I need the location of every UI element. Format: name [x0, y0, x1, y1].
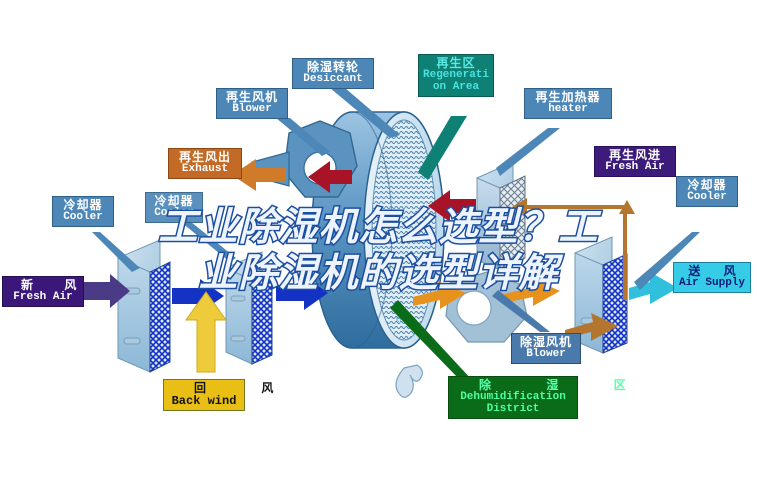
label-dehum-district-en-2: District: [453, 404, 573, 416]
label-regen-exhaust[interactable]: 再生风出 Exhaust: [168, 148, 242, 179]
overlay-title-line-1: 工业除湿机怎么选型？工: [0, 205, 757, 251]
label-cooler-right-en: Cooler: [681, 192, 733, 204]
water-drop: [396, 365, 422, 397]
label-back-wind-cn: 回 风: [168, 382, 240, 395]
label-cooler-right-cn: 冷却器: [681, 179, 733, 192]
label-back-wind[interactable]: 回 风 Back wind: [163, 379, 245, 411]
label-regen-area-cn: 再生区: [423, 57, 489, 70]
label-desiccant-rotor-en: Desiccant: [297, 74, 369, 86]
label-regen-area-en-2: on Area: [423, 82, 489, 94]
label-regen-exhaust-cn: 再生风出: [173, 151, 237, 164]
label-regen-exhaust-en: Exhaust: [173, 164, 237, 176]
label-cooler-right[interactable]: 冷却器 Cooler: [676, 176, 738, 207]
label-desiccant-rotor[interactable]: 除湿转轮 Desiccant: [292, 58, 374, 89]
label-regen-blower[interactable]: 再生风机 Blower: [216, 88, 288, 119]
label-dehum-blower[interactable]: 除湿风机 Blower: [511, 333, 581, 364]
overlay-title: 工业除湿机怎么选型？工 业除湿机的选型详解: [0, 205, 757, 297]
label-dehum-district-cn: 除 湿 区: [453, 379, 573, 392]
label-regen-fresh-air[interactable]: 再生风进 Fresh Air: [594, 146, 676, 177]
label-regen-heater[interactable]: 再生加热器 heater: [524, 88, 612, 119]
diagram-canvas: xt: [0, 0, 757, 488]
label-regen-fresh-air-en: Fresh Air: [599, 162, 671, 174]
label-dehum-district[interactable]: 除 湿 区 Dehumidification District: [448, 376, 578, 419]
label-regen-blower-cn: 再生风机: [221, 91, 283, 104]
label-desiccant-rotor-cn: 除湿转轮: [297, 61, 369, 74]
overlay-title-line-2: 业除湿机的选型详解: [0, 251, 757, 297]
label-back-wind-en: Back wind: [168, 395, 240, 408]
label-regen-heater-cn: 再生加热器: [529, 91, 607, 104]
label-regen-blower-en: Blower: [221, 104, 283, 116]
label-dehum-blower-en: Blower: [516, 349, 576, 361]
label-regen-area[interactable]: 再生区 Regenerati on Area: [418, 54, 494, 97]
label-dehum-blower-cn: 除湿风机: [516, 336, 576, 349]
label-regen-fresh-air-cn: 再生风进: [599, 149, 671, 162]
label-regen-heater-en: heater: [529, 104, 607, 116]
